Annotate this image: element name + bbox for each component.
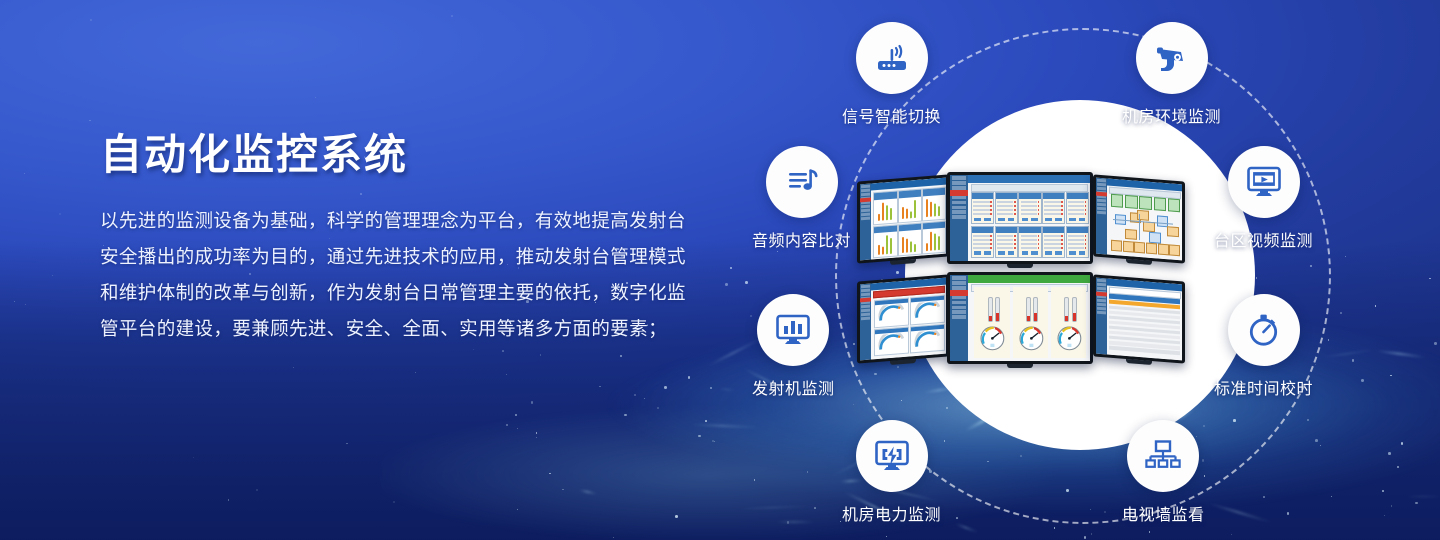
particle bbox=[346, 443, 347, 444]
mini-thermometer-level bbox=[1073, 313, 1076, 321]
mini-status-panel bbox=[1018, 226, 1041, 258]
mini-bar bbox=[886, 205, 888, 220]
mini-panel-header bbox=[996, 227, 1017, 233]
mini-node-block bbox=[1149, 232, 1161, 243]
mini-sidebar-item bbox=[1097, 310, 1106, 314]
mini-status-dot bbox=[1014, 205, 1015, 207]
mini-sidebar-active bbox=[860, 297, 871, 302]
mini-bar bbox=[910, 211, 912, 218]
mini-panel-button bbox=[1069, 218, 1076, 222]
music-note-list-icon bbox=[766, 146, 838, 218]
mini-titlebar bbox=[968, 175, 1090, 183]
mini-arc-gauge bbox=[910, 294, 945, 325]
particle bbox=[1390, 375, 1391, 376]
feature-node-signal-switch[interactable]: 信号智能切换 bbox=[842, 22, 941, 127]
mini-panel-row bbox=[1021, 247, 1037, 249]
mini-panel-row bbox=[1044, 205, 1060, 207]
mini-panel-button bbox=[1045, 218, 1052, 222]
mini-panel-row bbox=[997, 201, 1013, 203]
mini-status-dot bbox=[1014, 201, 1015, 203]
mini-status-dot bbox=[1038, 213, 1039, 215]
mini-status-panel bbox=[1042, 192, 1065, 224]
mini-status-panel bbox=[1066, 192, 1089, 224]
feature-node-audio-compare[interactable]: 音频内容比对 bbox=[752, 146, 851, 251]
feature-node-room-environment[interactable]: 机房环境监测 bbox=[1122, 22, 1221, 127]
monitor-stand bbox=[890, 259, 916, 265]
mini-panel-row bbox=[973, 213, 989, 215]
mini-panel-row bbox=[1044, 209, 1060, 211]
mini-panel-row bbox=[973, 243, 989, 245]
mini-bar bbox=[938, 236, 940, 250]
mini-sidebar-item bbox=[952, 301, 966, 305]
mini-status-dot bbox=[1061, 235, 1062, 237]
feature-label: 机房环境监测 bbox=[1122, 103, 1221, 127]
mini-sidebar bbox=[950, 175, 968, 261]
mini-bar bbox=[878, 214, 880, 221]
particle bbox=[517, 509, 518, 510]
particle bbox=[664, 386, 667, 389]
mini-thermometer bbox=[995, 297, 1000, 321]
screen-bar-dashboard[interactable] bbox=[857, 174, 949, 263]
particle bbox=[506, 424, 508, 426]
mini-chart-header bbox=[923, 188, 945, 196]
feature-node-area-video[interactable]: 台区视频监测 bbox=[1214, 146, 1313, 251]
mini-sidebar-item bbox=[952, 310, 966, 314]
mini-panel-header bbox=[1019, 193, 1040, 199]
mini-panel-row bbox=[1068, 213, 1084, 215]
mini-panel-header bbox=[1067, 227, 1088, 233]
router-wifi-icon bbox=[856, 22, 928, 94]
feature-label: 机房电力监测 bbox=[842, 501, 941, 525]
monitor-stand bbox=[890, 359, 916, 365]
mini-thermometer-level bbox=[1065, 316, 1068, 321]
mini-panel-row bbox=[1068, 239, 1084, 241]
mini-thermometer bbox=[1026, 297, 1031, 321]
mini-panel-button bbox=[998, 218, 1005, 222]
mini-bar bbox=[926, 199, 928, 217]
mini-panel-row bbox=[973, 201, 989, 203]
mini-chart-cell bbox=[873, 224, 897, 258]
mini-panel-button bbox=[1055, 218, 1062, 222]
mini-status-dot bbox=[990, 239, 991, 241]
particle bbox=[1382, 490, 1384, 492]
mini-status-dot bbox=[1085, 213, 1086, 215]
mini-panel-row bbox=[1044, 247, 1060, 249]
mini-bar bbox=[914, 244, 916, 252]
mini-sidebar-item bbox=[952, 315, 966, 319]
network-tree-icon bbox=[1127, 420, 1199, 492]
mini-toolbar bbox=[971, 184, 1088, 191]
particle bbox=[1415, 502, 1417, 504]
mini-panel-header bbox=[1019, 227, 1040, 233]
mini-status-dot bbox=[1038, 243, 1039, 245]
particle bbox=[644, 398, 645, 399]
feature-node-tv-wall[interactable]: 电视墙监看 bbox=[1122, 420, 1205, 525]
feature-label: 信号智能切换 bbox=[842, 103, 941, 127]
mini-sidebar bbox=[860, 184, 871, 261]
mini-panel-button bbox=[1031, 251, 1038, 255]
particle bbox=[956, 517, 958, 519]
mini-connector bbox=[1139, 214, 1140, 240]
particle bbox=[549, 473, 551, 475]
mini-bar bbox=[890, 207, 892, 220]
mini-panel-row bbox=[1021, 209, 1037, 211]
particle bbox=[25, 304, 26, 305]
mini-status-dot bbox=[1014, 243, 1015, 245]
particle bbox=[562, 489, 563, 490]
mini-panel-header bbox=[1043, 227, 1064, 233]
mini-panel-header bbox=[1067, 193, 1088, 199]
mini-status-dot bbox=[1014, 209, 1015, 211]
particle bbox=[1434, 342, 1437, 345]
feature-node-transmitter[interactable]: 发射机监测 bbox=[752, 294, 835, 399]
particle bbox=[536, 432, 538, 434]
monitor-video-icon bbox=[1228, 146, 1300, 218]
mini-panel-button bbox=[1045, 251, 1052, 255]
mini-panel-button bbox=[1055, 251, 1062, 255]
hero-banner: 自动化监控系统 以先进的监测设备为基础，科学的管理理念为平台，有效地提高发射台安… bbox=[0, 0, 1440, 540]
mini-gauge-arc bbox=[914, 330, 942, 348]
mini-sidebar-item bbox=[952, 296, 966, 300]
stopwatch-icon bbox=[1228, 294, 1300, 366]
mini-status-panel bbox=[1042, 226, 1065, 258]
mini-sidebar bbox=[950, 275, 968, 361]
mini-arc-gauge bbox=[874, 297, 909, 328]
mini-panel-row bbox=[1021, 243, 1037, 245]
mini-panel-button bbox=[1008, 218, 1015, 222]
mini-panel-row bbox=[997, 213, 1013, 215]
mini-node-block bbox=[1168, 198, 1180, 212]
mini-sidebar-active bbox=[1096, 191, 1107, 196]
particle bbox=[1149, 531, 1150, 532]
mini-chart-header bbox=[874, 192, 896, 200]
mini-dial-gauge bbox=[1056, 322, 1083, 355]
mini-status-dot bbox=[990, 213, 991, 215]
mini-panel-row bbox=[1021, 205, 1037, 207]
mini-chart-cell bbox=[922, 220, 946, 254]
mini-bar bbox=[910, 241, 912, 251]
monitor-stand bbox=[1007, 264, 1033, 268]
mini-panel-row bbox=[1068, 243, 1084, 245]
mini-panel-row bbox=[997, 243, 1013, 245]
mini-status-dot bbox=[1061, 239, 1062, 241]
mini-node-block bbox=[1167, 226, 1179, 237]
mini-sidebar-active bbox=[950, 290, 968, 295]
mini-chart-header bbox=[923, 221, 945, 229]
particle bbox=[52, 275, 53, 276]
mini-status-panel bbox=[995, 192, 1018, 224]
mini-bar bbox=[902, 237, 904, 253]
monitor-stand bbox=[1126, 259, 1152, 265]
particle bbox=[634, 394, 636, 396]
mini-screen bbox=[950, 275, 1090, 361]
feature-label: 标准时间校时 bbox=[1214, 375, 1313, 399]
mini-panel-row bbox=[997, 205, 1013, 207]
screen-schematic[interactable] bbox=[1093, 174, 1185, 263]
mini-panel-row bbox=[973, 205, 989, 207]
mini-status-dot bbox=[990, 209, 991, 211]
mini-gauge-arc bbox=[914, 301, 942, 319]
mini-sidebar bbox=[860, 284, 871, 361]
mini-panel-button bbox=[1022, 251, 1029, 255]
monitor-battery-bolt-icon bbox=[856, 420, 928, 492]
mini-node-block bbox=[1125, 229, 1137, 240]
cctv-camera-icon bbox=[1136, 22, 1208, 94]
particle bbox=[705, 420, 707, 422]
mini-chart-cell bbox=[898, 222, 922, 256]
mini-screen bbox=[1096, 278, 1182, 361]
mini-panel-row bbox=[973, 239, 989, 241]
mini-status-dot bbox=[1085, 235, 1086, 237]
mini-sidebar-item bbox=[861, 316, 870, 320]
mini-panel-button bbox=[974, 251, 981, 255]
mini-status-dot bbox=[1061, 213, 1062, 215]
mini-gauge-arc bbox=[878, 333, 906, 351]
mini-gauge-arc bbox=[878, 304, 906, 322]
mini-node-block bbox=[1154, 197, 1166, 211]
mini-panel-header bbox=[1043, 193, 1064, 199]
mini-status-panel bbox=[971, 226, 994, 258]
particle bbox=[1429, 278, 1430, 279]
mini-panel-row bbox=[1021, 239, 1037, 241]
mini-sidebar-item bbox=[952, 206, 966, 210]
mini-sidebar-item bbox=[952, 181, 966, 185]
mini-panel-header bbox=[972, 227, 993, 233]
mini-panel-header bbox=[996, 193, 1017, 199]
mini-panel-button bbox=[1069, 251, 1076, 255]
mini-node-block bbox=[1125, 195, 1137, 209]
mini-status-dot bbox=[1085, 205, 1086, 207]
mini-sidebar bbox=[1096, 278, 1107, 355]
mini-status-dot bbox=[1014, 247, 1015, 249]
mini-panel-row bbox=[1044, 235, 1060, 237]
page-title: 自动化监控系统 bbox=[100, 132, 700, 178]
mini-node-block bbox=[1111, 194, 1123, 208]
mini-dial-gauge bbox=[979, 322, 1006, 355]
mini-panel-button bbox=[1008, 251, 1015, 255]
particle bbox=[90, 19, 92, 21]
mini-screen bbox=[1096, 178, 1182, 261]
mini-arc-gauge bbox=[910, 323, 945, 354]
mini-status-dot bbox=[1061, 201, 1062, 203]
mini-status-dot bbox=[1085, 239, 1086, 241]
mini-sidebar-item bbox=[952, 215, 966, 219]
mini-status-dot bbox=[1038, 201, 1039, 203]
mini-thermometer-level bbox=[1027, 316, 1030, 321]
mini-bar bbox=[890, 238, 892, 254]
mini-panel-row bbox=[1068, 235, 1084, 237]
mini-chart-cell bbox=[922, 187, 946, 221]
mini-bar bbox=[886, 235, 888, 254]
particle bbox=[698, 435, 701, 438]
mini-node-block bbox=[1146, 242, 1157, 254]
monitor-barchart-icon bbox=[757, 294, 829, 366]
feature-node-room-power[interactable]: 机房电力监测 bbox=[842, 420, 941, 525]
mini-sidebar-item bbox=[952, 201, 966, 205]
particle bbox=[540, 354, 541, 355]
mini-sidebar-item bbox=[952, 176, 966, 180]
mini-status-dot bbox=[1061, 205, 1062, 207]
particle bbox=[1384, 515, 1385, 516]
mini-panel-row bbox=[973, 247, 989, 249]
mini-node-block bbox=[1111, 240, 1122, 252]
light-streak bbox=[775, 521, 816, 523]
mini-sidebar-item bbox=[952, 286, 966, 290]
mini-status-dot bbox=[990, 205, 991, 207]
feature-label: 电视墙监看 bbox=[1122, 501, 1205, 525]
mini-status-panel bbox=[1018, 192, 1041, 224]
mini-panel-row bbox=[973, 209, 989, 211]
mini-sidebar-item bbox=[952, 276, 966, 280]
mini-sidebar-active bbox=[860, 197, 871, 202]
mini-status-dot bbox=[990, 235, 991, 237]
mini-status-dot bbox=[1014, 239, 1015, 241]
mini-panel-row bbox=[1044, 201, 1060, 203]
mini-panel-button bbox=[984, 251, 991, 255]
screen-panel-grid[interactable] bbox=[947, 172, 1093, 264]
feature-label: 发射机监测 bbox=[752, 375, 835, 399]
particle bbox=[1320, 445, 1321, 446]
mini-panel-row bbox=[1068, 209, 1084, 211]
mini-status-dot bbox=[1038, 239, 1039, 241]
mini-panel-button bbox=[1031, 218, 1038, 222]
mini-bar bbox=[906, 209, 908, 219]
mini-thermometer-level bbox=[989, 316, 992, 321]
mini-chart-cell bbox=[873, 191, 897, 225]
mini-bar bbox=[930, 231, 932, 250]
mini-status-dot bbox=[1038, 209, 1039, 211]
mini-dial-gauge bbox=[1018, 322, 1045, 355]
particle bbox=[1388, 452, 1391, 455]
mini-node-block bbox=[1158, 243, 1169, 255]
screen-arc-gauges[interactable] bbox=[857, 274, 949, 363]
mini-status-dot bbox=[1085, 201, 1086, 203]
mini-bar bbox=[938, 206, 940, 216]
mini-panel-row bbox=[997, 247, 1013, 249]
mini-panel-row bbox=[1021, 213, 1037, 215]
mini-screen bbox=[860, 178, 946, 261]
mini-status-dot bbox=[1014, 235, 1015, 237]
particle bbox=[24, 173, 25, 174]
particle bbox=[502, 350, 504, 352]
particle bbox=[315, 97, 316, 98]
mini-panel-row bbox=[997, 209, 1013, 211]
mini-panel-button bbox=[984, 218, 991, 222]
mini-chart-cell bbox=[898, 189, 922, 223]
mini-panel-row bbox=[1021, 201, 1037, 203]
particle bbox=[725, 283, 728, 286]
mini-status-dot bbox=[990, 201, 991, 203]
copy-block: 自动化监控系统 以先进的监测设备为基础，科学的管理理念为平台，有效地提高发射台安… bbox=[100, 132, 700, 348]
mini-bar bbox=[882, 247, 884, 254]
mini-panel-row bbox=[1068, 201, 1084, 203]
mini-sidebar-active bbox=[1096, 291, 1107, 296]
mini-bar bbox=[934, 234, 936, 250]
mini-chart-header bbox=[899, 190, 921, 198]
particle bbox=[415, 372, 416, 373]
mini-status-dot bbox=[1038, 205, 1039, 207]
mini-status-dot bbox=[1085, 209, 1086, 211]
mini-panel-row bbox=[1044, 213, 1060, 215]
mini-panel-row bbox=[1021, 235, 1037, 237]
mini-panel-button bbox=[1022, 218, 1029, 222]
mini-panel-row bbox=[997, 235, 1013, 237]
mini-thermometer bbox=[1064, 297, 1069, 321]
feature-label: 音频内容比对 bbox=[752, 227, 851, 251]
mini-thermometer-level bbox=[996, 313, 999, 321]
screen-dial-gauges[interactable] bbox=[947, 272, 1093, 364]
mini-arc-gauge bbox=[874, 326, 909, 357]
feature-node-time-sync[interactable]: 标准时间校时 bbox=[1214, 294, 1313, 399]
mini-panel-header bbox=[972, 193, 993, 199]
monitor-stand bbox=[1126, 359, 1152, 365]
mini-bar bbox=[878, 244, 880, 254]
mini-thermometer bbox=[1033, 297, 1038, 321]
mini-status-dot bbox=[1061, 247, 1062, 249]
mini-screen bbox=[950, 175, 1090, 261]
mini-titlebar bbox=[968, 275, 1090, 283]
mini-bar bbox=[914, 200, 916, 218]
mini-panel-row bbox=[997, 239, 1013, 241]
mini-chart-header bbox=[899, 223, 921, 231]
screen-data-table[interactable] bbox=[1093, 274, 1185, 363]
mini-screen bbox=[860, 278, 946, 361]
mini-panel-row bbox=[1044, 239, 1060, 241]
mini-sidebar-item bbox=[952, 210, 966, 214]
particle bbox=[59, 213, 61, 215]
mini-panel-row bbox=[1068, 205, 1084, 207]
mini-node-block bbox=[1123, 241, 1134, 253]
mini-status-panel bbox=[1066, 226, 1089, 258]
mini-sidebar-item bbox=[861, 216, 870, 220]
mini-sidebar-item bbox=[952, 196, 966, 200]
mini-panel-button bbox=[1079, 218, 1086, 222]
mini-status-panel bbox=[995, 226, 1018, 258]
particle bbox=[1287, 512, 1289, 514]
mini-bar bbox=[882, 203, 884, 221]
particle bbox=[515, 414, 517, 416]
mini-sidebar-item bbox=[952, 281, 966, 285]
monitor-stand bbox=[1007, 364, 1033, 368]
mini-sidebar-item bbox=[952, 306, 966, 310]
particle bbox=[675, 515, 678, 518]
mini-status-dot bbox=[990, 247, 991, 249]
mini-sidebar-item bbox=[952, 186, 966, 190]
particle bbox=[657, 407, 659, 409]
mini-bar bbox=[934, 204, 936, 217]
particle bbox=[624, 414, 627, 417]
mini-status-dot bbox=[1061, 243, 1062, 245]
mini-panel-row bbox=[1044, 243, 1060, 245]
mini-status-dot bbox=[1014, 213, 1015, 215]
mini-status-dot bbox=[1085, 247, 1086, 249]
mini-status-dot bbox=[1085, 243, 1086, 245]
mini-thermometer-level bbox=[1034, 313, 1037, 321]
particle bbox=[1352, 359, 1354, 361]
mini-chart-header bbox=[874, 225, 896, 233]
particle bbox=[1340, 312, 1342, 314]
description-paragraph: 以先进的监测设备为基础，科学的管理理念为平台，有效地提高发射台安全播出的成功率为… bbox=[100, 204, 700, 348]
mini-node-block bbox=[1134, 241, 1145, 253]
mini-status-dot bbox=[1038, 235, 1039, 237]
mini-panel-button bbox=[974, 218, 981, 222]
particle bbox=[1361, 379, 1364, 382]
mini-sidebar bbox=[1096, 178, 1107, 255]
mini-status-dot bbox=[1038, 247, 1039, 249]
mini-bar bbox=[926, 243, 928, 251]
mini-node-block bbox=[1139, 196, 1151, 210]
mini-status-panel bbox=[971, 192, 994, 224]
